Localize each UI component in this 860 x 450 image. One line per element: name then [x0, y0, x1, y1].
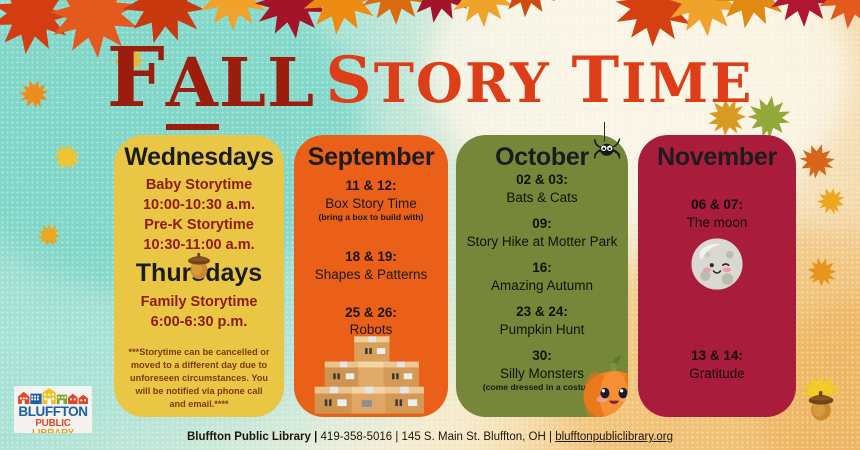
event-item: 09: Story Hike at Motter Park — [456, 215, 628, 250]
event-item: 06 & 07: The moon — [638, 196, 796, 231]
event-name: Bats & Cats — [456, 189, 628, 207]
card-heading-wednesdays: Wednesdays — [114, 135, 284, 170]
card-september: September 11 & 12: Box Story Time (bring… — [294, 135, 448, 417]
library-logo[interactable]: BLUFFTON PUBLIC LIBRARY OUR LIBRARY. OUR… — [14, 386, 92, 433]
title-story-s: S — [326, 43, 374, 118]
family-storytime-label: Family Storytime — [114, 292, 284, 312]
event-item: 11 & 12: Box Story Time (bring a box to … — [294, 177, 448, 222]
event-item: 02 & 03: Bats & Cats — [456, 171, 628, 206]
acorn-icon — [800, 372, 842, 424]
library-buildings-icon — [16, 388, 90, 405]
spider-icon — [594, 122, 630, 170]
event-date: 02 & 03: — [456, 171, 628, 189]
baby-storytime-time: 10:00-10:30 a.m. — [114, 195, 284, 215]
card-heading-november: November — [638, 135, 796, 170]
footer-separator-3: | — [546, 431, 555, 443]
event-name: Gratitude — [638, 365, 796, 383]
footer-address: 145 S. Main St. Bluffton, OH — [402, 431, 546, 443]
footer-website-link[interactable]: blufftonpubliclibrary.org — [555, 431, 673, 443]
title-story-time: STORY TIME — [326, 51, 754, 115]
event-item: 13 & 14: Gratitude — [638, 347, 796, 382]
prek-storytime-label: Pre-K Storytime — [114, 215, 284, 235]
event-date: 11 & 12: — [294, 177, 448, 195]
footer-separator-2: | — [392, 431, 401, 443]
title-fall-f: F — [107, 30, 166, 126]
family-storytime-time: 6:00-6:30 p.m. — [114, 312, 284, 332]
cardboard-boxes-icon — [308, 333, 434, 417]
storytime-disclaimer: ***Storytime can be cancelled or moved t… — [114, 346, 284, 411]
event-date: 25 & 26: — [294, 304, 448, 322]
card-weekly-schedule: Wednesdays Baby Storytime 10:00-10:30 a.… — [114, 135, 284, 417]
card-october: October 02 & 03: Bats & Cats 09: Story H… — [456, 135, 628, 417]
event-date: 18 & 19: — [294, 248, 448, 266]
schedule-cards: Wednesdays Baby Storytime 10:00-10:30 a.… — [0, 135, 860, 417]
event-item: 23 & 24: Pumpkin Hunt — [456, 303, 628, 338]
event-date: 09: — [456, 215, 628, 233]
poster-canvas: FALL STORY TIME Wednesdays Baby Storytim… — [0, 0, 860, 450]
footer-separator-1: | — [311, 431, 321, 443]
event-name: Box Story Time — [294, 195, 448, 213]
event-name: Story Hike at Motter Park — [456, 233, 628, 251]
event-note: (bring a box to build with) — [294, 212, 448, 222]
title-fall: FALL — [107, 43, 315, 122]
title-time-t: T — [572, 43, 622, 118]
footer-phone: 419-358-5016 — [321, 431, 393, 443]
moon-icon — [688, 235, 746, 293]
title-story-tory: TORY — [374, 51, 572, 115]
footer-contact-info: Bluffton Public Library | 419-358-5016 |… — [0, 431, 860, 443]
event-date: 06 & 07: — [638, 196, 796, 214]
event-date: 23 & 24: — [456, 303, 628, 321]
card-november: November 06 & 07: The moon — [638, 135, 796, 417]
event-name: Amazing Autumn — [456, 277, 628, 295]
title-fall-a: A — [166, 43, 219, 130]
title-time-ime: IME — [621, 51, 753, 115]
footer-library-name: Bluffton Public Library — [187, 431, 311, 443]
logo-bluffton-text: BLUFFTON — [16, 405, 90, 419]
acorn-icon — [181, 246, 217, 282]
title-fall-ll: LL — [219, 43, 315, 122]
event-name: Pumpkin Hunt — [456, 321, 628, 339]
event-item: 16: Amazing Autumn — [456, 259, 628, 294]
event-name: The moon — [638, 214, 796, 232]
event-item: 18 & 19: Shapes & Patterns — [294, 248, 448, 283]
pumpkin-icon — [576, 349, 628, 417]
event-date: 16: — [456, 259, 628, 277]
baby-storytime-label: Baby Storytime — [114, 175, 284, 195]
event-date: 13 & 14: — [638, 347, 796, 365]
card-heading-september: September — [294, 135, 448, 170]
event-name: Shapes & Patterns — [294, 266, 448, 284]
poster-title: FALL STORY TIME — [0, 26, 860, 122]
